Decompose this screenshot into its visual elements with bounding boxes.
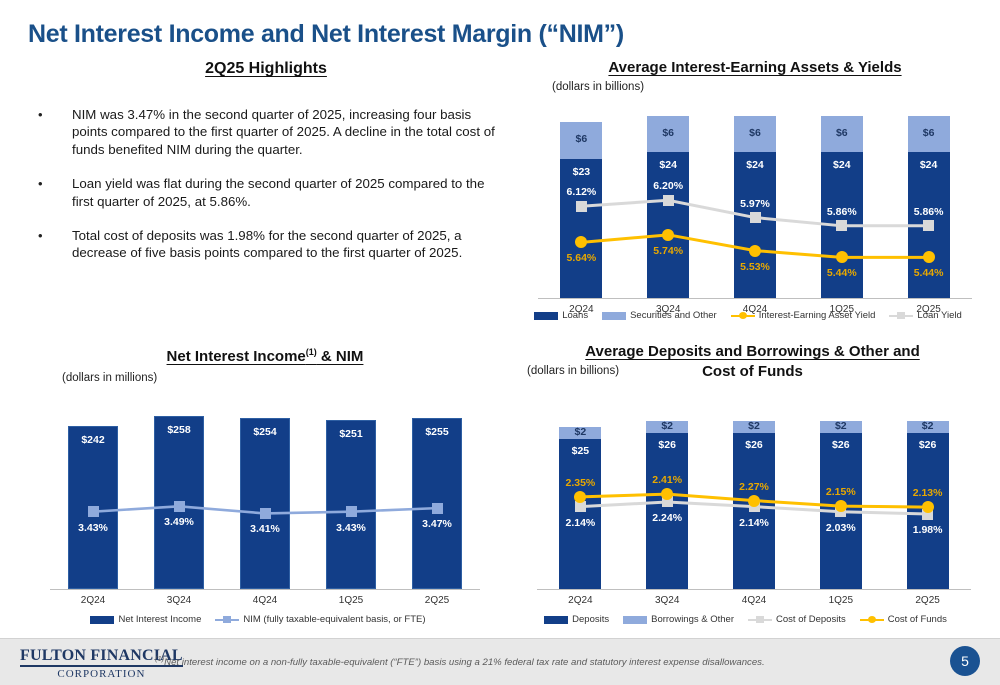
list-item: • Total cost of deposits was 1.98% for t… <box>32 227 502 262</box>
legend-label: Cost of Funds <box>888 614 947 625</box>
legend-marker <box>756 616 764 623</box>
bar-label-net-interest-income: $255 <box>412 426 462 438</box>
series-marker <box>749 245 761 257</box>
legend-marker <box>897 312 905 319</box>
line-label-nim: 3.49% <box>144 516 214 528</box>
highlights-list: • NIM was 3.47% in the second quarter of… <box>32 106 502 279</box>
chart-legend: DepositsBorrowings & OtherCost of Deposi… <box>515 614 990 625</box>
legend-item: Securities and Other <box>602 310 717 321</box>
chart-legend: LoansSecurities and OtherInterest-Earnin… <box>520 310 990 321</box>
legend-swatch <box>544 616 568 624</box>
legend-marker <box>223 616 231 623</box>
bullet-text: Loan yield was flat during the second qu… <box>72 175 502 210</box>
x-axis <box>537 589 971 590</box>
legend-item: NIM (fully taxable-equivalent basis, or … <box>215 614 425 625</box>
series-marker <box>748 495 760 507</box>
chart-net-interest-income-and-nim: Net Interest Income(1) & NIM (dollars in… <box>30 342 500 632</box>
bar-label-loans: $24 <box>821 159 863 171</box>
bar-label-borrowings: $2 <box>646 420 688 432</box>
x-axis-tick-label: 1Q25 <box>811 595 871 606</box>
chart-plot-area: $242$258$254$251$2553.43%3.49%3.41%3.43%… <box>30 342 500 632</box>
x-axis-tick-label: 2Q25 <box>407 595 467 606</box>
bar-label-loans: $24 <box>647 159 689 171</box>
bar-label-net-interest-income: $254 <box>240 426 290 438</box>
legend-item: Loan Yield <box>889 310 961 321</box>
bar-label-securities: $6 <box>560 133 602 145</box>
x-axis-tick-label: 3Q24 <box>149 595 209 606</box>
bar-net-interest-income <box>240 418 290 589</box>
series-marker <box>922 501 934 513</box>
page-title: Net Interest Income and Net Interest Mar… <box>28 20 624 49</box>
legend-item: Borrowings & Other <box>623 614 734 625</box>
bar-label-securities: $6 <box>908 127 950 139</box>
series-marker <box>923 220 934 231</box>
bullet-marker: • <box>32 175 72 210</box>
legend-item: Loans <box>534 310 588 321</box>
legend-swatch <box>90 616 114 624</box>
legend-label: Interest-Earning Asset Yield <box>759 310 876 321</box>
chart-average-interest-earning-assets: Average Interest-Earning Assets & Yields… <box>520 58 990 326</box>
slide: Net Interest Income and Net Interest Mar… <box>0 0 1000 685</box>
chart-plot-area: $6$23$6$24$6$24$6$24$6$246.12%6.20%5.97%… <box>520 58 990 326</box>
series-marker <box>835 500 847 512</box>
list-item: • NIM was 3.47% in the second quarter of… <box>32 106 502 158</box>
bar-label-deposits: $26 <box>907 439 949 451</box>
series-marker <box>260 508 271 519</box>
bullet-marker: • <box>32 106 72 158</box>
bar-label-deposits: $26 <box>646 439 688 451</box>
line-label-asset-yield: 5.64% <box>546 252 616 264</box>
legend-swatch <box>623 616 647 624</box>
line-label-cost-of-deposits: 2.14% <box>719 517 789 529</box>
series-marker <box>750 212 761 223</box>
line-label-asset-yield: 5.53% <box>720 261 790 273</box>
bar-label-net-interest-income: $251 <box>326 428 376 440</box>
line-label-cost-of-funds: 2.15% <box>806 486 876 498</box>
bar-label-borrowings: $2 <box>733 420 775 432</box>
x-axis <box>50 589 480 590</box>
legend-swatch <box>534 312 558 320</box>
line-label-cost-of-deposits: 2.24% <box>632 512 702 524</box>
legend-item: Deposits <box>544 614 609 625</box>
series-marker <box>663 195 674 206</box>
bar-label-securities: $6 <box>734 127 776 139</box>
bar-label-borrowings: $2 <box>820 420 862 432</box>
x-axis-tick-label: 3Q24 <box>637 595 697 606</box>
bar-segment-loans <box>734 152 776 298</box>
logo-line-2: CORPORATION <box>20 668 183 680</box>
x-axis-tick-label: 2Q24 <box>63 595 123 606</box>
line-label-loan-yield: 5.86% <box>807 206 877 218</box>
x-axis-tick-label: 4Q24 <box>235 595 295 606</box>
bar-segment-loans <box>647 152 689 298</box>
chart-average-deposits-and-cost-of-funds: Average Deposits and Borrowings & Other … <box>515 342 990 632</box>
legend-item: Cost of Funds <box>860 614 947 625</box>
highlights-heading: 2Q25 Highlights <box>186 60 346 78</box>
legend-swatch <box>602 312 626 320</box>
series-marker <box>923 251 935 263</box>
line-label-cost-of-funds: 2.41% <box>632 474 702 486</box>
bar-net-interest-income <box>326 420 376 589</box>
footnote: (1)Net interest income on a non-fully ta… <box>155 653 915 669</box>
line-label-cost-of-deposits: 2.03% <box>806 522 876 534</box>
series-marker <box>346 506 357 517</box>
line-label-cost-of-funds: 2.35% <box>545 477 615 489</box>
line-label-cost-of-deposits: 1.98% <box>893 524 963 536</box>
legend-label: Deposits <box>572 614 609 625</box>
bullet-text: NIM was 3.47% in the second quarter of 2… <box>72 106 502 158</box>
legend-marker <box>868 616 876 623</box>
legend-item: Cost of Deposits <box>748 614 846 625</box>
bar-label-net-interest-income: $242 <box>68 434 118 446</box>
bar-label-loans: $24 <box>908 159 950 171</box>
line-label-asset-yield: 5.74% <box>633 245 703 257</box>
bar-label-deposits: $26 <box>820 439 862 451</box>
footnote-marker: (1) <box>155 654 164 663</box>
line-label-loan-yield: 6.20% <box>633 180 703 192</box>
legend-label: NIM (fully taxable-equivalent basis, or … <box>243 614 425 625</box>
line-label-asset-yield: 5.44% <box>807 267 877 279</box>
line-label-loan-yield: 6.12% <box>546 186 616 198</box>
bar-segment-deposits <box>559 439 601 589</box>
legend-label: Securities and Other <box>630 310 717 321</box>
bar-label-loans: $23 <box>560 166 602 178</box>
chart-plot-area: $2$25$2$26$2$26$2$26$2$262.35%2.41%2.27%… <box>515 342 990 632</box>
line-label-cost-of-deposits: 2.14% <box>545 517 615 529</box>
line-label-loan-yield: 5.86% <box>894 206 964 218</box>
line-label-asset-yield: 5.44% <box>894 267 964 279</box>
x-axis-tick-label: 4Q24 <box>724 595 784 606</box>
legend-label: Borrowings & Other <box>651 614 734 625</box>
series-marker <box>662 229 674 241</box>
series-marker <box>836 220 847 231</box>
bar-label-securities: $6 <box>647 127 689 139</box>
line-label-nim: 3.43% <box>58 522 128 534</box>
legend-label: Loan Yield <box>917 310 961 321</box>
series-marker <box>174 501 185 512</box>
series-marker <box>576 201 587 212</box>
bar-label-borrowings: $2 <box>907 420 949 432</box>
x-axis-tick-label: 1Q25 <box>321 595 381 606</box>
line-label-nim: 3.41% <box>230 523 300 535</box>
bar-label-net-interest-income: $258 <box>154 424 204 436</box>
bullet-text: Total cost of deposits was 1.98% for the… <box>72 227 502 262</box>
legend-label: Cost of Deposits <box>776 614 846 625</box>
chart-legend: Net Interest IncomeNIM (fully taxable-eq… <box>30 614 500 625</box>
legend-label: Net Interest Income <box>118 614 201 625</box>
legend-item: Net Interest Income <box>90 614 201 625</box>
x-axis <box>538 298 972 299</box>
legend-label: Loans <box>562 310 588 321</box>
bar-label-borrowings: $2 <box>559 426 601 438</box>
line-label-loan-yield: 5.97% <box>720 198 790 210</box>
legend-line-marker <box>215 615 239 624</box>
bar-label-securities: $6 <box>821 127 863 139</box>
legend-item: Interest-Earning Asset Yield <box>731 310 876 321</box>
bullet-marker: • <box>32 227 72 262</box>
line-label-cost-of-funds: 2.13% <box>893 487 963 499</box>
x-axis-tick-label: 2Q24 <box>550 595 610 606</box>
series-marker <box>432 503 443 514</box>
x-axis-tick-label: 2Q25 <box>898 595 958 606</box>
bar-label-deposits: $26 <box>733 439 775 451</box>
bar-label-loans: $24 <box>734 159 776 171</box>
line-label-nim: 3.47% <box>402 518 472 530</box>
bar-segment-loans <box>560 159 602 298</box>
list-item: • Loan yield was flat during the second … <box>32 175 502 210</box>
page-number-badge: 5 <box>950 646 980 676</box>
series-marker <box>88 506 99 517</box>
bar-label-deposits: $25 <box>559 445 601 457</box>
legend-line-marker <box>889 311 913 320</box>
footnote-text: Net interest income on a non-fully taxab… <box>164 657 764 668</box>
footer: FULTON FINANCIAL CORPORATION (1)Net inte… <box>0 638 1000 685</box>
legend-line-marker <box>748 615 772 624</box>
line-label-nim: 3.43% <box>316 522 386 534</box>
legend-marker <box>739 312 747 319</box>
legend-line-marker <box>860 615 884 624</box>
legend-line-marker <box>731 311 755 320</box>
line-label-cost-of-funds: 2.27% <box>719 481 789 493</box>
